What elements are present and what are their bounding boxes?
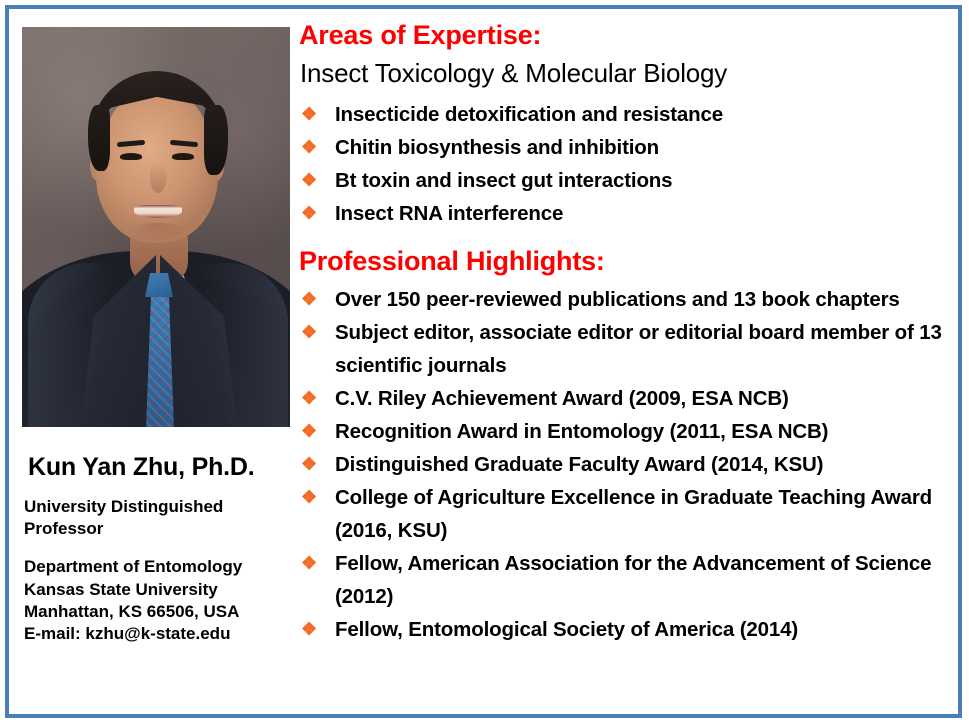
diamond-bullet-icon: ❖ — [301, 164, 323, 197]
address-line-city: Manhattan, KS 66506, USA — [24, 601, 290, 623]
list-item-label: Chitin biosynthesis and inhibition — [335, 136, 659, 159]
expertise-subtitle: Insect Toxicology & Molecular Biology — [300, 58, 951, 89]
diamond-bullet-icon: ❖ — [301, 283, 323, 316]
highlights-list: ❖ Over 150 peer-reviewed publications an… — [299, 283, 951, 646]
list-item: ❖ Recognition Award in Entomology (2011,… — [299, 415, 951, 448]
list-item: ❖ Bt toxin and insect gut interactions — [299, 164, 951, 197]
diamond-bullet-icon: ❖ — [301, 547, 323, 580]
list-item-label: Distinguished Graduate Faculty Award (20… — [335, 453, 823, 476]
person-title: University Distinguished Professor — [24, 496, 274, 539]
list-item-label: Fellow, Entomological Society of America… — [335, 618, 798, 641]
list-item-label: College of Agriculture Excellence in Gra… — [335, 486, 932, 542]
diamond-bullet-icon: ❖ — [301, 382, 323, 415]
address-line-university: Kansas State University — [24, 579, 290, 601]
list-item-label: Insecticide detoxification and resistanc… — [335, 103, 723, 126]
diamond-bullet-icon: ❖ — [301, 415, 323, 448]
profile-column: Kun Yan Zhu, Ph.D. University Distinguis… — [22, 27, 290, 646]
list-item: ❖ Fellow, American Association for the A… — [299, 547, 951, 613]
eye-left — [120, 153, 142, 160]
address-line-department: Department of Entomology — [24, 556, 290, 578]
list-item: ❖ Chitin biosynthesis and inhibition — [299, 131, 951, 164]
list-item-label: C.V. Riley Achievement Award (2009, ESA … — [335, 387, 789, 410]
list-item: ❖ Subject editor, associate editor or ed… — [299, 316, 951, 382]
mouth — [134, 205, 182, 218]
list-item-label: Subject editor, associate editor or edit… — [335, 321, 942, 377]
eye-right — [172, 153, 194, 160]
list-item: ❖ Fellow, Entomological Society of Ameri… — [299, 613, 951, 646]
suit-highlight-left — [28, 263, 124, 427]
hair-side-left — [88, 105, 110, 171]
suit-highlight-right — [190, 263, 288, 427]
diamond-bullet-icon: ❖ — [301, 98, 323, 131]
list-item-label: Bt toxin and insect gut interactions — [335, 169, 672, 192]
person-name: Kun Yan Zhu, Ph.D. — [28, 453, 290, 482]
list-item-label: Fellow, American Association for the Adv… — [335, 552, 931, 608]
address-line-email: E-mail: kzhu@k-state.edu — [24, 623, 290, 645]
chin-shadow — [126, 223, 190, 241]
portrait-photo — [22, 27, 290, 427]
list-item: ❖ Distinguished Graduate Faculty Award (… — [299, 448, 951, 481]
list-item: ❖ Insecticide detoxification and resista… — [299, 98, 951, 131]
list-item-label: Insect RNA interference — [335, 202, 563, 225]
list-item: ❖ C.V. Riley Achievement Award (2009, ES… — [299, 382, 951, 415]
content-column: Areas of Expertise: Insect Toxicology & … — [299, 20, 951, 646]
nose — [150, 163, 166, 193]
highlights-heading: Professional Highlights: — [299, 246, 951, 277]
diamond-bullet-icon: ❖ — [301, 131, 323, 164]
contact-address: Department of Entomology Kansas State Un… — [24, 556, 290, 646]
diamond-bullet-icon: ❖ — [301, 481, 323, 514]
hair-side-right — [204, 105, 228, 175]
profile-slide: Kun Yan Zhu, Ph.D. University Distinguis… — [0, 0, 969, 726]
diamond-bullet-icon: ❖ — [301, 197, 323, 230]
diamond-bullet-icon: ❖ — [301, 613, 323, 646]
diamond-bullet-icon: ❖ — [301, 448, 323, 481]
list-item-label: Over 150 peer-reviewed publications and … — [335, 288, 900, 311]
list-item: ❖ Over 150 peer-reviewed publications an… — [299, 283, 951, 316]
list-item-label: Recognition Award in Entomology (2011, E… — [335, 420, 828, 443]
list-item: ❖ College of Agriculture Excellence in G… — [299, 481, 951, 547]
diamond-bullet-icon: ❖ — [301, 316, 323, 349]
expertise-heading: Areas of Expertise: — [299, 20, 951, 51]
list-item: ❖ Insect RNA interference — [299, 197, 951, 230]
expertise-list: ❖ Insecticide detoxification and resista… — [299, 98, 951, 230]
